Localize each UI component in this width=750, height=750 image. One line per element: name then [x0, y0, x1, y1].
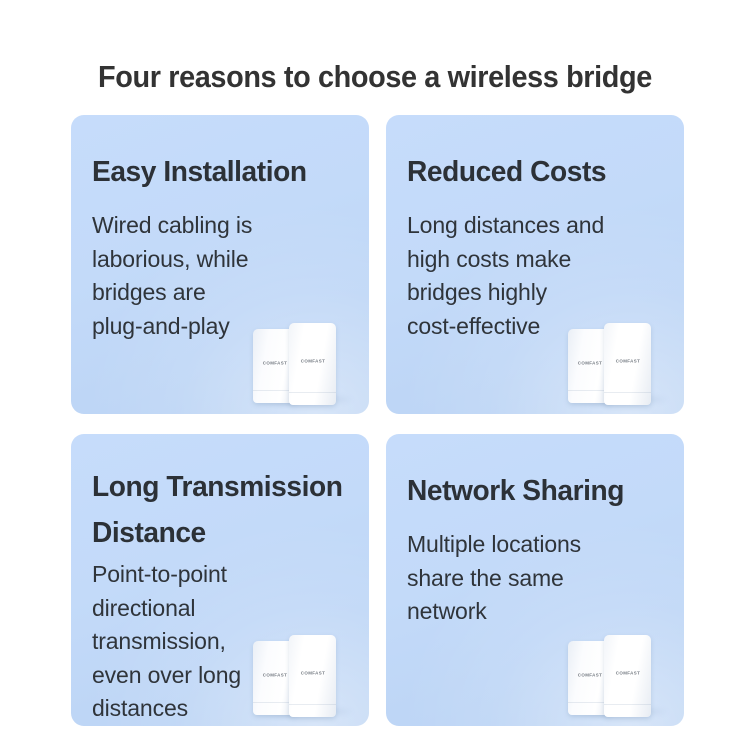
card-description: Point-to-point directional transmission,…: [92, 558, 346, 726]
device-shadow: [568, 705, 668, 718]
infographic-page: Four reasons to choose a wireless bridge…: [0, 0, 750, 750]
reason-card-long-transmission-distance[interactable]: Long Transmission Distance Point-to-poin…: [71, 434, 369, 726]
device-shadow: [568, 393, 668, 406]
device-seam: [253, 390, 296, 391]
brand-logo: COMFAST: [300, 358, 324, 363]
brand-logo: COMFAST: [577, 672, 601, 677]
card-heading: Reduced Costs: [407, 149, 658, 195]
brand-logo: COMFAST: [262, 360, 286, 365]
card-content: Reduced Costs Long distances and high co…: [386, 115, 684, 343]
brand-logo: COMFAST: [615, 670, 639, 675]
card-heading: Long Transmission Distance: [92, 464, 343, 556]
card-description: Long distances and high costs make bridg…: [407, 209, 661, 343]
bridge-unit-back: COMFAST: [568, 641, 611, 715]
card-heading: Easy Installation: [92, 149, 343, 195]
card-content: Long Transmission Distance Point-to-poin…: [71, 434, 369, 726]
brand-logo: COMFAST: [615, 358, 639, 363]
device-seam: [568, 702, 611, 703]
bridge-unit-front: COMFAST: [604, 635, 651, 717]
reasons-card-grid: Easy Installation Wired cabling is labor…: [71, 115, 684, 726]
card-content: Network Sharing Multiple locations share…: [386, 434, 684, 629]
device-seam: [289, 392, 336, 393]
device-shadow: [253, 393, 353, 406]
device-seam: [568, 390, 611, 391]
device-seam: [604, 392, 651, 393]
reason-card-reduced-costs[interactable]: Reduced Costs Long distances and high co…: [386, 115, 684, 414]
reason-card-easy-installation[interactable]: Easy Installation Wired cabling is labor…: [71, 115, 369, 414]
page-title: Four reasons to choose a wireless bridge: [26, 57, 724, 97]
brand-logo: COMFAST: [577, 360, 601, 365]
card-description: Wired cabling is laborious, while bridge…: [92, 209, 346, 343]
card-content: Easy Installation Wired cabling is labor…: [71, 115, 369, 343]
card-description: Multiple locations share the same networ…: [407, 528, 661, 629]
wireless-bridge-device-image: COMFAST COMFAST: [562, 618, 674, 726]
reason-card-network-sharing[interactable]: Network Sharing Multiple locations share…: [386, 434, 684, 726]
card-heading: Network Sharing: [407, 468, 658, 514]
device-seam: [604, 704, 651, 705]
